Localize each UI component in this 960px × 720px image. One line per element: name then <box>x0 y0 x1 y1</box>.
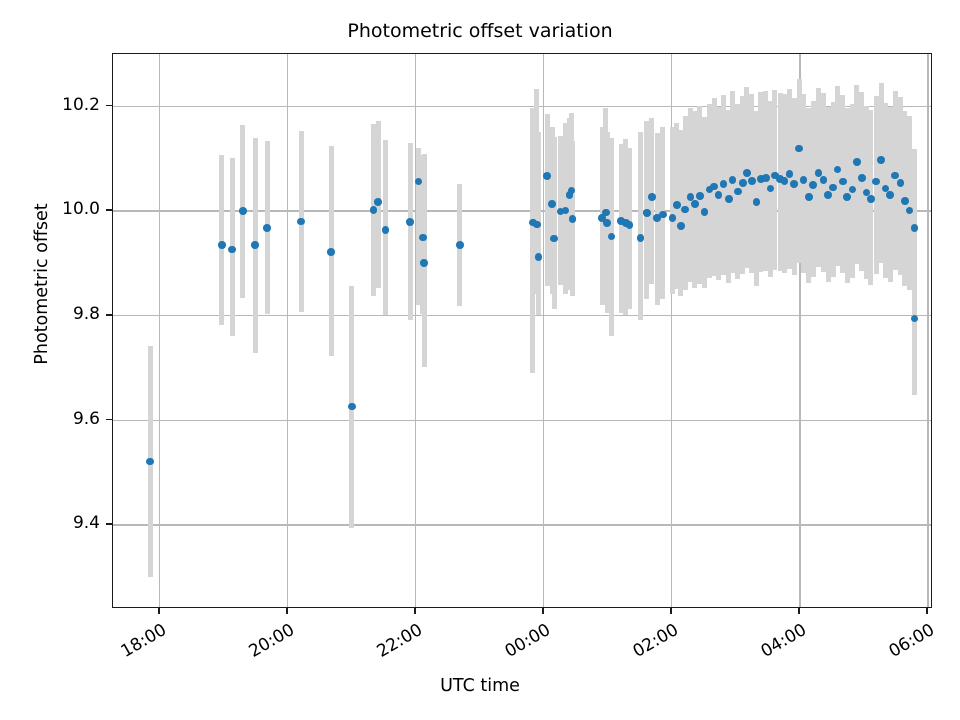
y-tick-mark <box>106 105 112 107</box>
data-point <box>382 226 390 234</box>
data-point <box>696 192 704 200</box>
data-point <box>897 179 905 187</box>
data-point <box>643 209 651 217</box>
data-point <box>805 193 813 201</box>
data-point <box>533 221 541 229</box>
data-point <box>725 195 733 203</box>
data-point <box>853 158 861 166</box>
x-tick-mark <box>542 608 544 614</box>
y-tick-mark <box>106 314 112 316</box>
data-point <box>891 172 899 180</box>
data-point <box>877 156 885 164</box>
x-tick-mark <box>670 608 672 614</box>
error-bar <box>552 137 557 309</box>
data-point <box>602 209 610 217</box>
data-point <box>456 241 464 249</box>
data-point <box>251 241 259 249</box>
data-point <box>753 198 761 206</box>
data-point <box>626 221 634 229</box>
data-point <box>669 214 677 222</box>
chart-title: Photometric offset variation <box>0 20 960 42</box>
data-point <box>550 235 558 243</box>
x-tick-label: 02:00 <box>622 620 682 666</box>
data-point <box>659 211 667 219</box>
data-point <box>569 215 577 223</box>
data-point <box>701 208 709 216</box>
data-point <box>781 177 789 185</box>
data-point <box>839 178 847 186</box>
data-point <box>901 197 909 205</box>
data-point <box>790 180 798 188</box>
x-tick-mark <box>158 608 160 614</box>
y-tick-mark <box>106 209 112 211</box>
error-bar <box>408 143 413 320</box>
x-tick-label: 04:00 <box>750 620 810 666</box>
x-tick-mark <box>414 608 416 614</box>
x-tick-mark <box>286 608 288 614</box>
data-point <box>867 195 875 203</box>
y-axis-label: Photometric offset <box>32 74 52 494</box>
data-point <box>146 458 154 466</box>
plot-area <box>112 53 932 608</box>
chart-figure: Photometric offset variation 9.49.69.810… <box>0 0 960 720</box>
x-tick-label: 18:00 <box>110 620 170 666</box>
gridline-horizontal <box>113 420 931 421</box>
data-point <box>820 176 828 184</box>
error-bar <box>638 132 643 320</box>
data-point <box>843 193 851 201</box>
y-tick-label: 9.6 <box>8 409 100 429</box>
data-point <box>677 222 685 230</box>
data-point <box>911 224 919 232</box>
data-point <box>637 234 645 242</box>
x-tick-mark <box>798 608 800 614</box>
error-bar <box>912 149 917 395</box>
data-point <box>829 184 837 192</box>
data-point <box>734 188 742 196</box>
x-tick-label: 22:00 <box>366 620 426 666</box>
data-point <box>739 179 747 187</box>
data-point <box>886 191 894 199</box>
data-point <box>715 191 723 199</box>
data-point <box>548 200 556 208</box>
data-point <box>911 315 919 323</box>
x-tick-mark <box>926 608 928 614</box>
x-tick-label: 06:00 <box>878 620 938 666</box>
data-point <box>370 206 378 214</box>
y-tick-label: 10.2 <box>8 95 100 115</box>
data-point <box>348 403 356 411</box>
y-tick-mark <box>106 419 112 421</box>
data-point <box>824 191 832 199</box>
gridline-horizontal <box>113 315 931 316</box>
data-point <box>419 234 427 242</box>
data-point <box>608 233 616 241</box>
data-point <box>374 198 382 206</box>
data-point <box>297 218 305 226</box>
y-tick-mark <box>106 523 112 525</box>
y-tick-label: 9.8 <box>8 304 100 324</box>
data-point <box>748 177 756 185</box>
data-point <box>858 174 866 182</box>
data-point <box>420 259 428 267</box>
data-point <box>218 241 226 249</box>
data-point <box>228 246 236 254</box>
data-point <box>543 172 551 180</box>
gridline-horizontal <box>113 524 931 525</box>
data-point <box>239 207 247 215</box>
y-tick-label: 9.4 <box>8 513 100 533</box>
data-point <box>406 218 414 226</box>
data-point <box>710 183 718 191</box>
data-point <box>681 206 689 214</box>
data-point <box>603 219 611 227</box>
data-point <box>691 200 699 208</box>
data-point <box>786 170 794 178</box>
data-point <box>327 248 335 256</box>
y-tick-label: 10.0 <box>8 199 100 219</box>
gridline-horizontal <box>113 106 931 107</box>
x-tick-label: 00:00 <box>494 620 554 666</box>
x-axis-label: UTC time <box>0 676 960 696</box>
x-tick-label: 20:00 <box>238 620 298 666</box>
data-point <box>263 224 271 232</box>
data-point <box>648 193 656 201</box>
data-point <box>762 174 770 182</box>
data-point <box>743 169 751 177</box>
data-point <box>673 201 681 209</box>
data-point <box>535 253 543 261</box>
